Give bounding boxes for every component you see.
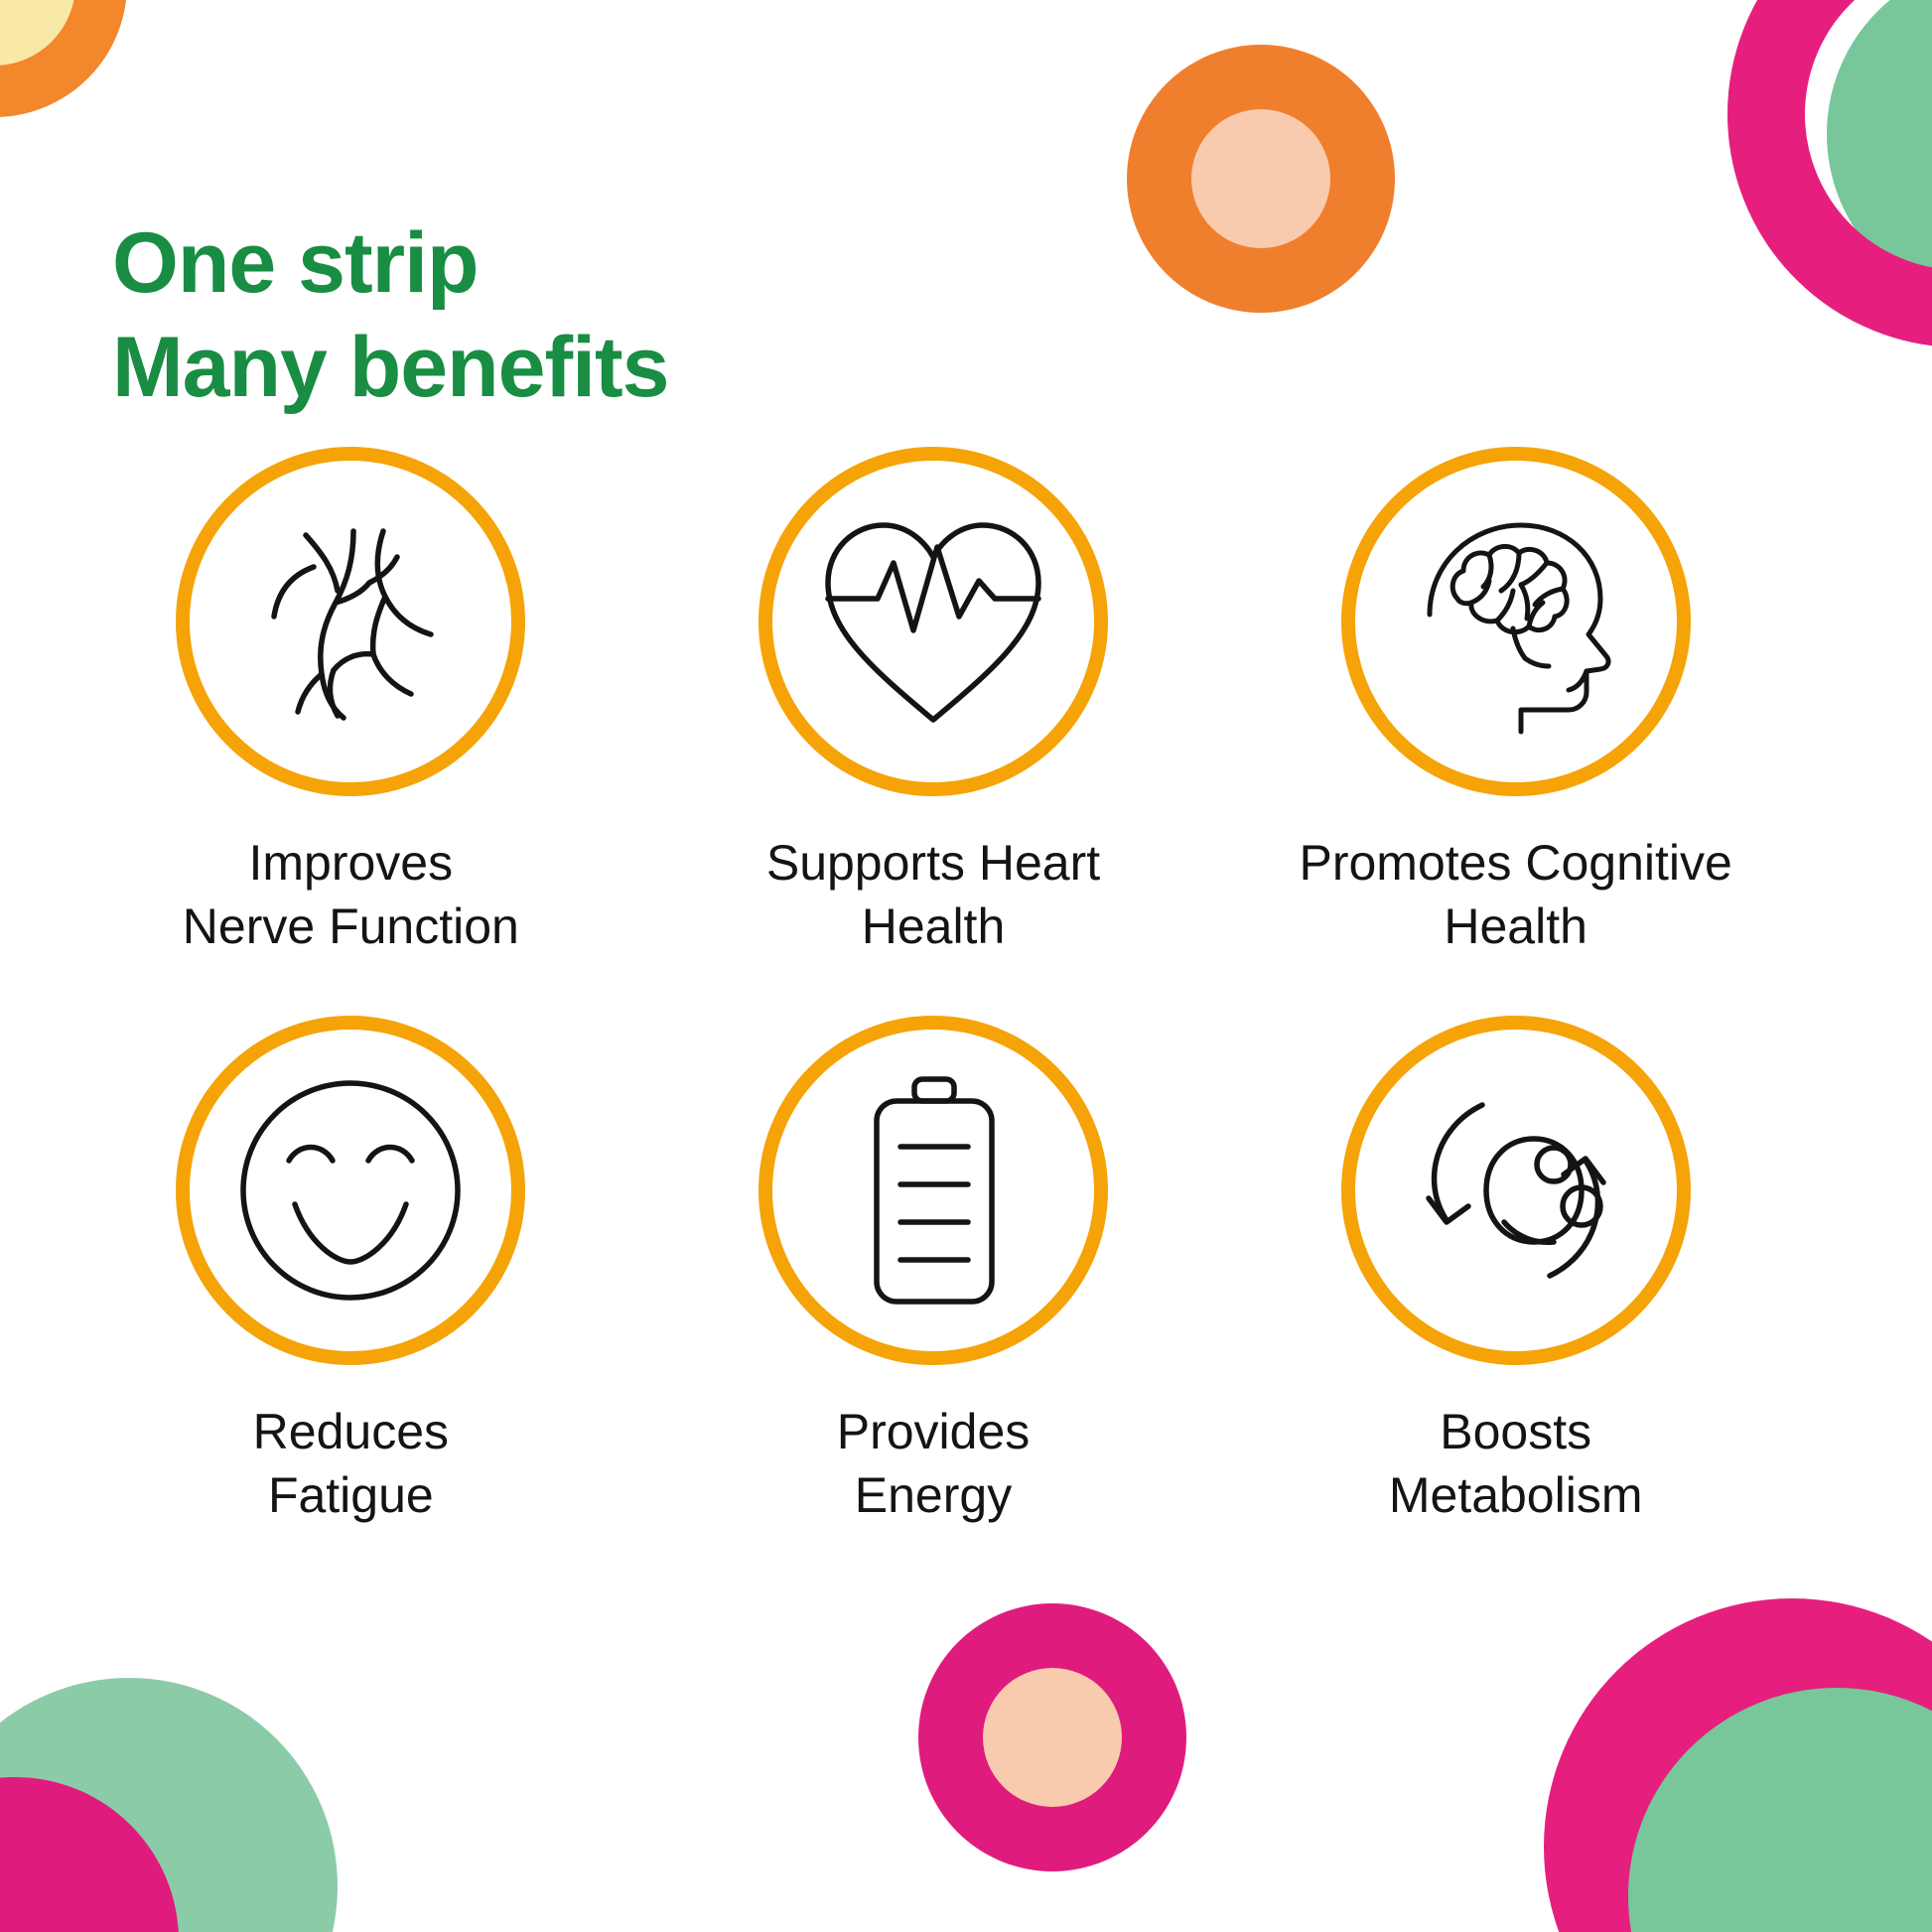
benefit-label: Promotes Cognitive Health bbox=[1300, 832, 1732, 958]
ring-right-magenta bbox=[1727, 0, 1932, 347]
corner-arc-top-left-orange bbox=[0, 0, 127, 117]
benefit-icon-ring bbox=[176, 1016, 525, 1365]
benefit-item-improves-nerve-function: Improves Nerve Function bbox=[60, 447, 642, 958]
nerve-icon bbox=[236, 507, 465, 736]
benefit-label: Reduces Fatigue bbox=[253, 1401, 449, 1527]
benefit-icon-ring bbox=[759, 1016, 1108, 1365]
benefit-label: Supports Heart Health bbox=[766, 832, 1100, 958]
benefits-grid: Improves Nerve Function Supports Heart H… bbox=[60, 447, 1807, 1527]
benefit-icon-ring bbox=[1341, 1016, 1691, 1365]
benefit-label: Improves Nerve Function bbox=[183, 832, 519, 958]
benefit-icon-ring bbox=[1341, 447, 1691, 796]
donut-top-inner-peach bbox=[1191, 109, 1330, 248]
benefit-label: Boosts Metabolism bbox=[1389, 1401, 1643, 1527]
donut-bottom-inner-peach bbox=[983, 1668, 1122, 1807]
heart-pulse-icon bbox=[814, 507, 1052, 736]
benefit-item-boosts-metabolism: Boosts Metabolism bbox=[1224, 1016, 1807, 1527]
brain-head-icon bbox=[1402, 507, 1630, 736]
benefit-item-supports-heart-health: Supports Heart Health bbox=[642, 447, 1225, 958]
infographic-canvas: One strip Many benefits bbox=[0, 0, 1932, 1932]
benefit-item-reduces-fatigue: Reduces Fatigue bbox=[60, 1016, 642, 1527]
benefit-item-provides-energy: Provides Energy bbox=[642, 1016, 1225, 1527]
benefit-label: Provides Energy bbox=[837, 1401, 1031, 1527]
smiley-face-icon bbox=[233, 1073, 468, 1308]
benefit-item-promotes-cognitive-health: Promotes Cognitive Health bbox=[1224, 447, 1807, 958]
metabolism-atom-icon bbox=[1399, 1073, 1633, 1308]
battery-icon bbox=[819, 1071, 1047, 1310]
benefit-icon-ring bbox=[759, 447, 1108, 796]
benefit-icon-ring bbox=[176, 447, 525, 796]
page-title: One strip Many benefits bbox=[112, 211, 668, 420]
